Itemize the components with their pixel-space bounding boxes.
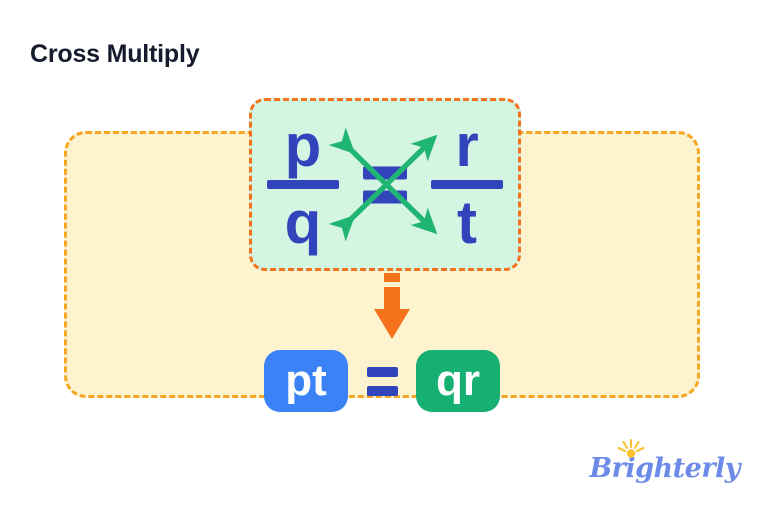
result-chip-qr: qr bbox=[416, 350, 500, 412]
result-row: pt qr bbox=[264, 350, 500, 412]
down-arrow-icon bbox=[368, 271, 416, 343]
result-equals-bar-top bbox=[367, 367, 398, 377]
page-title: Cross Multiply bbox=[30, 42, 199, 67]
sunburst-icon bbox=[616, 438, 646, 460]
formula-card: p q r t bbox=[249, 98, 521, 271]
brand-wordmark: Brighterly bbox=[589, 455, 740, 482]
equals-sign-result bbox=[348, 367, 416, 396]
result-equals-bar-bottom bbox=[367, 386, 398, 396]
cross-arrows-icon bbox=[252, 101, 518, 268]
result-chip-pt: pt bbox=[264, 350, 348, 412]
brand-logo: Brighterly bbox=[589, 442, 740, 482]
